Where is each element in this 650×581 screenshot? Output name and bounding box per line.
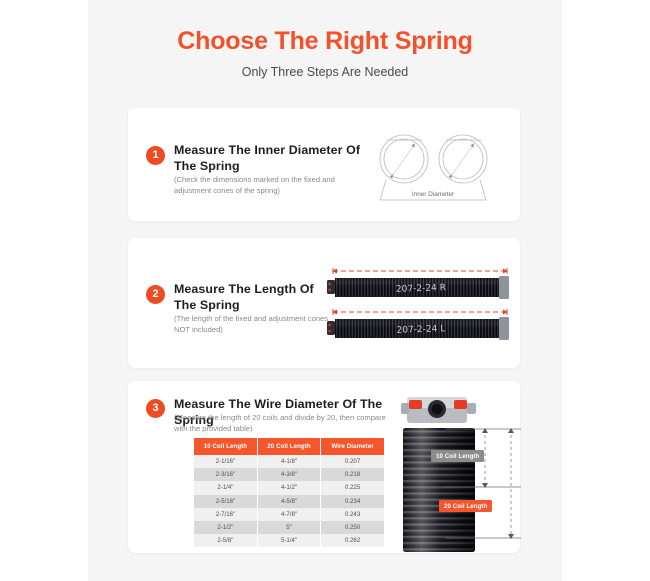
table-row: 2-3/16" 4-3/8" 0.218 [194, 468, 384, 481]
cell-10-coil: 2-1/4" [194, 481, 257, 494]
cell-wire-diameter: 0.225 [321, 481, 384, 494]
coil-dimension-lines [393, 392, 523, 552]
cell-wire-diameter: 0.234 [321, 495, 384, 508]
table-body: 2-1/16" 4-1/8" 0.207 2-3/16" 4-3/8" 0.21… [194, 455, 384, 547]
table-row: 2-5/8" 5-1/4" 0.262 [194, 534, 384, 547]
cell-20-coil: 5" [257, 521, 320, 534]
page-title: Choose The Right Spring [88, 0, 562, 56]
step-note-1: (Check the dimensions marked on the fixe… [174, 174, 374, 196]
table-row: 2-1/16" 4-1/8" 0.207 [194, 455, 384, 468]
cell-wire-diameter: 0.207 [321, 455, 384, 468]
step-note-2: (The length of the fixed and adjustment … [174, 313, 344, 335]
spring-label-top: 207-2-24 R [396, 283, 446, 295]
spring-label-bottom: 207-2-24 L [396, 324, 445, 336]
table-row: 2-5/16" 4-5/8" 0.234 [194, 495, 384, 508]
cell-10-coil: 2-1/2" [194, 521, 257, 534]
table-row: 2-7/16" 4-7/8" 0.243 [194, 508, 384, 521]
page-subtitle: Only Three Steps Are Needed [88, 56, 562, 79]
label-20-coil-length: 20 Coil Length [439, 500, 492, 512]
cell-20-coil: 4-1/8" [257, 455, 320, 468]
column-header-wire-diameter: Wire Diameter [321, 438, 384, 455]
step-number-badge-2: 2 [146, 285, 165, 304]
cell-wire-diameter: 0.250 [321, 521, 384, 534]
cell-10-coil: 2-7/16" [194, 508, 257, 521]
table-header-row: 10 Coil Length 20 Coil Length Wire Diame… [194, 438, 384, 455]
cell-wire-diameter: 0.243 [321, 508, 384, 521]
cell-20-coil: 5-1/4" [257, 534, 320, 547]
cell-10-coil: 2-5/16" [194, 495, 257, 508]
page-header: Choose The Right Spring Only Three Steps… [88, 0, 562, 79]
column-header-20-coil: 20 Coil Length [257, 438, 320, 455]
cell-10-coil: 2-3/16" [194, 468, 257, 481]
inner-diameter-label: Inner Diameter [412, 191, 455, 198]
cell-wire-diameter: 0.262 [321, 534, 384, 547]
coil-photo: 10 Coil Length 20 Coil Length [393, 392, 523, 552]
table-row: 2-1/4" 4-1/2" 0.225 [194, 481, 384, 494]
cell-20-coil: 4-5/8" [257, 495, 320, 508]
spring-bottom: 207-2-24 L [327, 309, 509, 340]
wire-diameter-table: 10 Coil Length 20 Coil Length Wire Diame… [194, 438, 384, 547]
cell-10-coil: 2-5/8" [194, 534, 257, 547]
cell-20-coil: 4-1/2" [257, 481, 320, 494]
step-note-3: (Measure the length of 20 coils and divi… [174, 412, 389, 434]
cell-20-coil: 4-7/8" [257, 508, 320, 521]
cell-wire-diameter: 0.218 [321, 468, 384, 481]
step-number-badge-1: 1 [146, 146, 165, 165]
spring-top: 207-2-24 R [327, 268, 509, 299]
spring-length-diagram: 207-2-24 R 207-2-24 L [325, 266, 520, 352]
cell-10-coil: 2-1/16" [194, 455, 257, 468]
inner-diameter-diagram: Inner Diameter [368, 128, 508, 210]
step-title-2: Measure The Length Of The Spring [174, 281, 324, 314]
step-number-badge-3: 3 [146, 399, 165, 418]
label-10-coil-length: 10 Coil Length [431, 450, 484, 462]
column-header-10-coil: 10 Coil Length [194, 438, 257, 455]
step-title-1: Measure The Inner Diameter Of The Spring [174, 142, 364, 175]
table-row: 2-1/2" 5" 0.250 [194, 521, 384, 534]
cell-20-coil: 4-3/8" [257, 468, 320, 481]
